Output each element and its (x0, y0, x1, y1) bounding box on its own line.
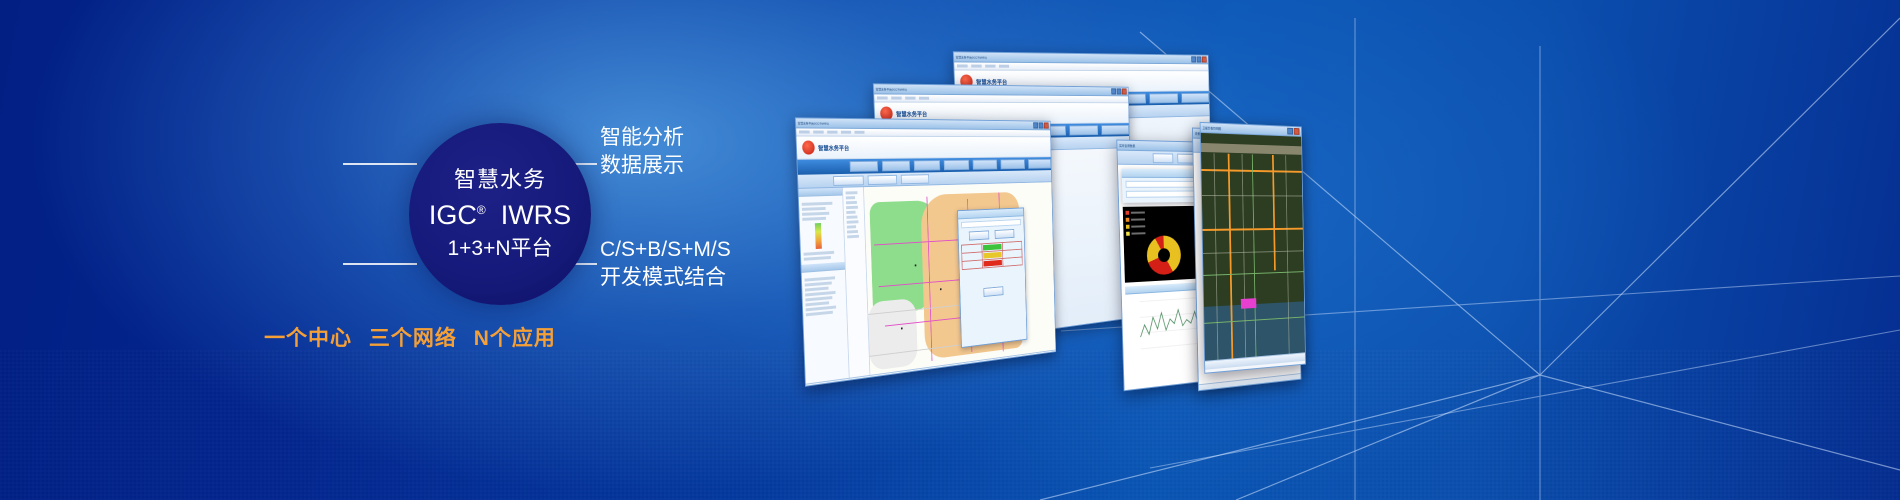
brand-header: 智慧水务平台 (796, 136, 1050, 159)
maximize-icon (1197, 56, 1202, 62)
menu-item (971, 65, 982, 68)
app-window-front[interactable]: 智慧水务平台(IGC®IWRS) 智慧水务平台 (795, 117, 1056, 387)
pie-chart (1146, 235, 1181, 275)
app-logo-icon (802, 141, 815, 155)
window-title: 实时监测数据 (1119, 143, 1135, 147)
concept-diagram: 完全自主 知识产权 以WebGIS 系统中心 智能分析 数据展示 C/S+B/S… (0, 0, 820, 500)
nav-tab (882, 160, 910, 171)
core-product-tail: IWRS (501, 200, 572, 230)
sub-tab (868, 174, 898, 184)
window-title: 卫星影像管网图 (1202, 125, 1221, 130)
map-node (901, 327, 903, 329)
filter-field[interactable] (1126, 181, 1200, 188)
query-button[interactable] (969, 230, 989, 240)
status-chip-green (983, 244, 1001, 251)
legend-row (1126, 230, 1145, 236)
menu-item (841, 131, 851, 134)
minimize-icon (1111, 88, 1116, 94)
brand-label: 智慧水务平台 (818, 143, 849, 152)
window-controls[interactable] (1287, 128, 1299, 135)
legend-swatch (815, 223, 822, 249)
core-product-main: IGC (429, 200, 477, 230)
menu-item (827, 131, 837, 134)
menu-item (891, 97, 902, 100)
window-title: 智慧水务平台(IGC®IWRS) (876, 87, 907, 91)
nav-tab (1150, 93, 1179, 103)
sub-tab (833, 175, 864, 185)
core-badge: 智慧水务 IGC® IWRS 1+3+N平台 (409, 123, 591, 305)
core-platform: 1+3+N平台 (447, 238, 552, 259)
layers-panel-header (798, 188, 842, 197)
tagline-item-1: 一个中心 (264, 327, 352, 350)
sub-tab (1153, 153, 1173, 163)
map-node (915, 264, 917, 266)
tool-item (847, 230, 858, 233)
tool-item (846, 206, 858, 209)
core-title: 智慧水务 (454, 169, 546, 191)
window-title: 智慧水务平台(IGC®IWRS) (798, 121, 829, 125)
maximize-icon (1117, 88, 1122, 94)
analysis-dialog[interactable] (957, 207, 1027, 348)
menu-item (799, 130, 810, 133)
registered-icon: ® (477, 203, 486, 217)
core-product: IGC® IWRS (429, 202, 571, 229)
status-chip-red (984, 260, 1002, 267)
ok-button[interactable] (983, 286, 1003, 297)
satellite-map-window[interactable]: 卫星影像管网图 (1200, 122, 1306, 374)
tool-item (846, 211, 855, 214)
gauge-legend (1125, 210, 1145, 238)
legend-row (1126, 223, 1145, 228)
layer-item (802, 202, 833, 206)
banner-stage: 完全自主 知识产权 以WebGIS 系统中心 智能分析 数据展示 C/S+B/S… (0, 0, 1900, 500)
urban-strip (1201, 143, 1302, 155)
nav-tab (850, 161, 879, 172)
tool-item (847, 220, 859, 223)
map-canvas[interactable] (864, 182, 1056, 375)
feature-top-right-line2: 数据展示 (600, 152, 684, 180)
menu-item (919, 97, 929, 100)
tool-item (846, 196, 855, 199)
sub-tab (901, 174, 929, 184)
nav-tab (1001, 159, 1025, 169)
feature-bottom-right: C/S+B/S+M/S 开发模式结合 (600, 236, 731, 292)
tagline-item-2: 三个网络 (369, 327, 457, 350)
property-row (806, 311, 833, 317)
feature-top-right-line1: 智能分析 (600, 124, 684, 152)
screenshot-stack: 智慧水务平台(IGC®IWRS) 智慧水务平台 智慧水务平台(IGC®IWRS) (790, 50, 1470, 450)
layer-item (802, 217, 826, 221)
satellite-canvas[interactable] (1201, 133, 1305, 361)
close-icon (1202, 56, 1207, 62)
window-controls[interactable] (1111, 88, 1127, 94)
menu-item (999, 65, 1009, 68)
close-icon (1122, 88, 1127, 94)
tagline-item-3: N个应用 (474, 327, 556, 350)
dialog-footer[interactable] (960, 284, 1025, 299)
nav-tab (1181, 93, 1209, 103)
menu-item (877, 96, 888, 99)
minimize-icon (1033, 122, 1038, 128)
menu-item (905, 97, 915, 100)
connector-top-left (343, 163, 417, 165)
nav-tab (1070, 125, 1099, 135)
feature-bottom-right-line1: C/S+B/S+M/S (600, 236, 731, 264)
layer-item (804, 256, 831, 261)
window-controls[interactable] (1191, 56, 1207, 62)
layers-panel[interactable] (798, 188, 849, 384)
feature-bottom-right-line2: 开发模式结合 (600, 264, 731, 292)
nav-tab (913, 160, 940, 171)
tool-item (847, 225, 856, 228)
menu-item (957, 64, 968, 67)
maximize-icon (1039, 122, 1044, 128)
status-chip-yellow (983, 252, 1001, 259)
tool-item (846, 191, 858, 194)
minimize-icon (1191, 56, 1196, 62)
dialog-titlebar[interactable] (958, 208, 1023, 219)
tool-item (846, 201, 857, 204)
legend-row (1125, 210, 1144, 215)
nav-tab (1101, 125, 1129, 135)
menu-item (985, 65, 995, 68)
clear-button[interactable] (995, 229, 1015, 239)
nav-tab (973, 159, 998, 169)
highlight-area (1241, 298, 1257, 309)
nav-tab (944, 160, 970, 170)
legend-row (1126, 216, 1145, 221)
properties-list (802, 272, 847, 321)
layer-item (802, 207, 826, 211)
tool-item (847, 235, 859, 239)
dialog-input[interactable] (961, 219, 1021, 228)
close-icon (1044, 122, 1049, 128)
connector-bottom-left (343, 263, 417, 265)
dialog-buttons[interactable] (959, 228, 1024, 241)
menu-item (813, 131, 824, 134)
close-icon (1294, 128, 1300, 135)
brand-label: 智慧水务平台 (896, 109, 927, 118)
tool-item (846, 215, 857, 218)
minimize-icon (1287, 128, 1293, 135)
result-table (961, 241, 1023, 270)
feature-top-right: 智能分析 数据展示 (600, 124, 684, 180)
layer-tree[interactable] (799, 198, 845, 265)
tool-list[interactable] (843, 187, 865, 242)
menu-item (854, 131, 864, 134)
window-title: 智慧水务平台(IGC®IWRS) (956, 55, 987, 59)
window-controls[interactable] (1033, 122, 1049, 128)
layer-item (802, 212, 829, 216)
tagline: 一个中心 三个网络 N个应用 (0, 322, 820, 352)
map-node (940, 288, 942, 290)
nav-tab (1028, 159, 1051, 169)
gis-workspace (798, 182, 1055, 384)
